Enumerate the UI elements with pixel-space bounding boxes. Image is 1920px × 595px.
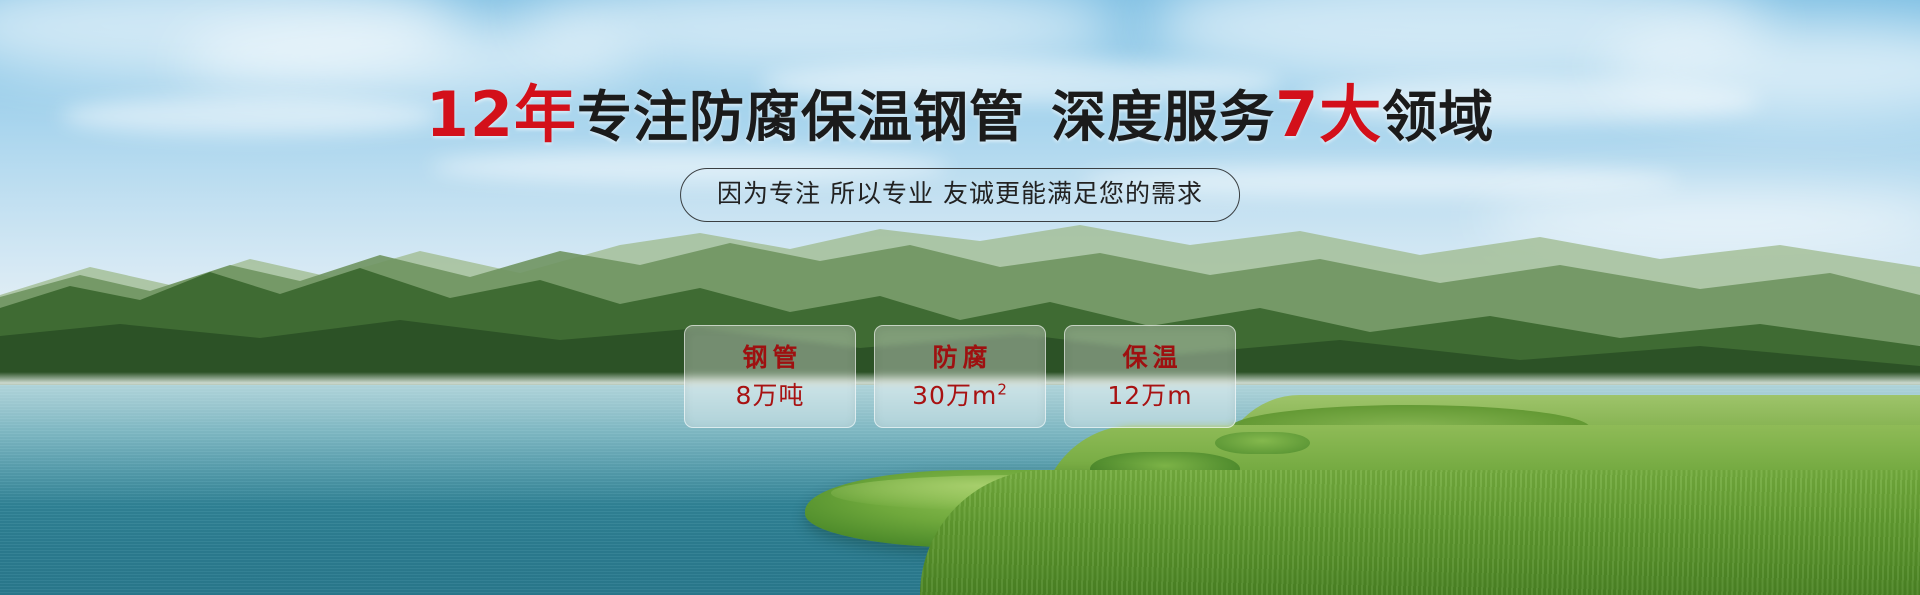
headline-segment-seven: 7大 bbox=[1275, 78, 1382, 151]
stat-card-value: 12万m bbox=[1107, 382, 1192, 410]
headline-segment-fields: 领域 bbox=[1382, 85, 1494, 149]
headline-segment-years: 12年 bbox=[426, 78, 577, 151]
stat-card-value: 30万m2 bbox=[912, 382, 1008, 410]
headline-segment-service: 深度服务 bbox=[1051, 85, 1275, 149]
stat-card-title: 钢管 bbox=[737, 344, 802, 372]
banner-headline: 12年专注防腐保温钢管深度服务7大领域 bbox=[0, 84, 1920, 148]
grass-islet-small bbox=[1215, 432, 1310, 454]
stat-card-title: 防腐 bbox=[927, 344, 992, 372]
stat-card-value: 8万吨 bbox=[736, 382, 805, 410]
grass-field-near bbox=[920, 470, 1920, 595]
headline-segment-focus: 专注防腐保温钢管 bbox=[577, 85, 1025, 149]
stat-card-steel-pipe[interactable]: 钢管 8万吨 bbox=[684, 325, 856, 428]
stat-cards-group: 钢管 8万吨 防腐 30万m2 保温 12万m bbox=[684, 325, 1236, 428]
banner-subtitle-text: 因为专注 所以专业 友诚更能满足您的需求 bbox=[717, 179, 1203, 208]
stat-card-insulation[interactable]: 保温 12万m bbox=[1064, 325, 1236, 428]
stat-card-unit-superscript: 2 bbox=[997, 380, 1008, 398]
stat-card-anticorrosion[interactable]: 防腐 30万m2 bbox=[874, 325, 1046, 428]
banner-subtitle-pill: 因为专注 所以专业 友诚更能满足您的需求 bbox=[680, 168, 1240, 222]
hero-banner: 12年专注防腐保温钢管深度服务7大领域 因为专注 所以专业 友诚更能满足您的需求… bbox=[0, 0, 1920, 595]
stat-card-title: 保温 bbox=[1117, 344, 1182, 372]
